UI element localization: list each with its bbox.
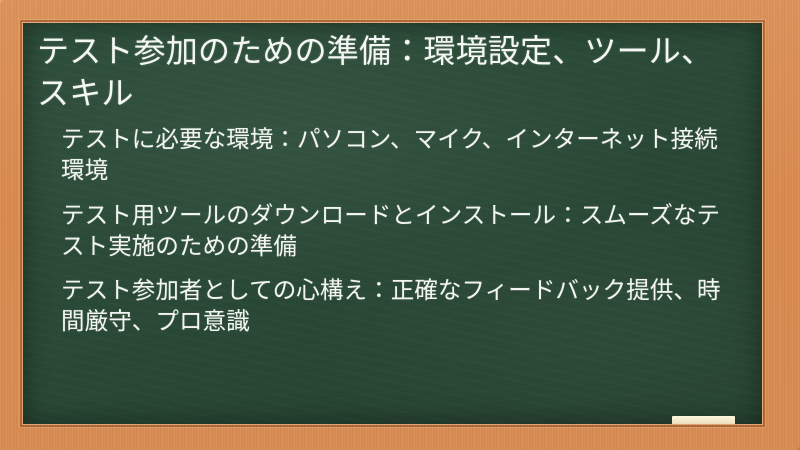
- blackboard-surface: テスト参加のための準備：環境設定、ツール、スキル テストに必要な環境：パソコン、…: [23, 23, 762, 424]
- slide-title: テスト参加のための準備：環境設定、ツール、スキル: [37, 31, 744, 114]
- bullet-item-1: テストに必要な環境：パソコン、マイク、インターネット接続環境: [61, 124, 734, 187]
- bullet-item-2: テスト用ツールのダウンロードとインストール：スムーズなテスト実施のための準備: [61, 200, 734, 263]
- blackboard-slide: テスト参加のための準備：環境設定、ツール、スキル テストに必要な環境：パソコン、…: [0, 0, 800, 450]
- board-content: テスト参加のための準備：環境設定、ツール、スキル テストに必要な環境：パソコン、…: [23, 23, 762, 338]
- chalk-stick: [672, 416, 735, 424]
- bullet-item-3: テスト参加者としての心構え：正確なフィードバック提供、時間厳守、プロ意識: [61, 275, 734, 338]
- bullet-list: テストに必要な環境：パソコン、マイク、インターネット接続環境 テスト用ツールのダ…: [37, 124, 744, 338]
